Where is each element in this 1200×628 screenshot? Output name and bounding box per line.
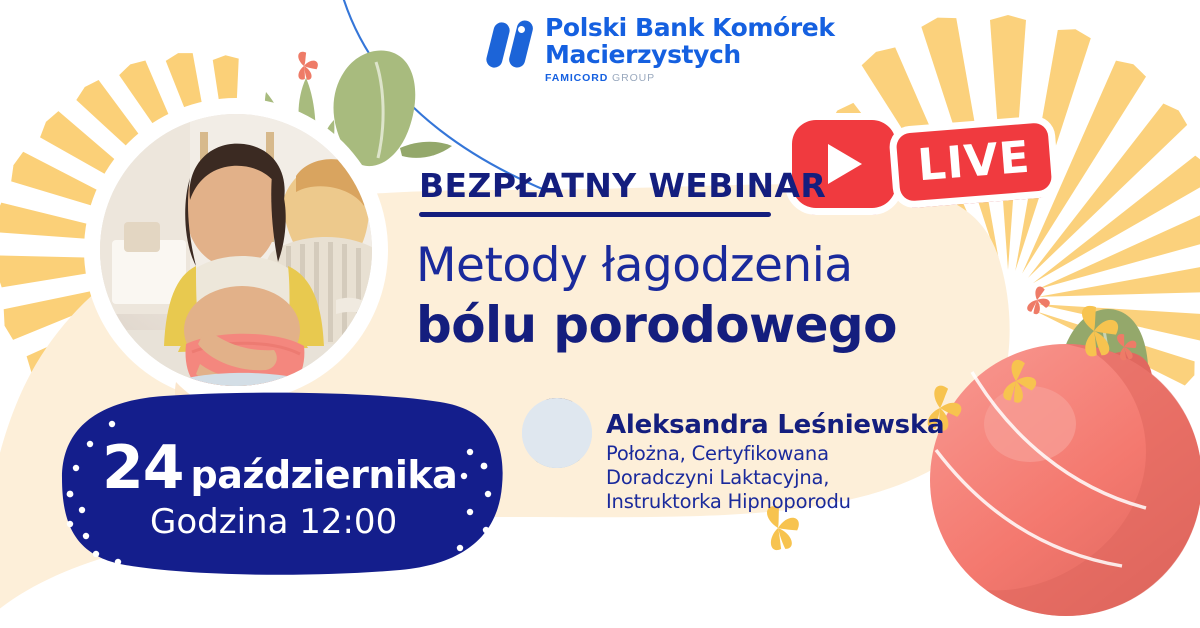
brand-logo[interactable]: Polski Bank Komórek Macierzystych FAMICO… xyxy=(487,14,817,92)
ball-highlight xyxy=(984,386,1076,462)
logo-subtitle-group: GROUP xyxy=(612,72,655,84)
event-time: Godzina 12:00 xyxy=(150,502,397,542)
live-label: LIVE xyxy=(916,136,1032,189)
logo-wordmark: Polski Bank Komórek Macierzystych FAMICO… xyxy=(539,14,835,84)
event-day: 24 xyxy=(102,438,184,498)
headline-line-2: bólu porodowego xyxy=(416,296,897,354)
play-triangle-icon xyxy=(828,144,862,184)
exercise-ball-illustration xyxy=(930,344,1200,616)
logo-mark-icon xyxy=(487,20,539,70)
logo-subtitle-famicord: FAMICORD xyxy=(545,72,608,84)
webinar-kicker: BEZPŁATNY WEBINAR xyxy=(419,166,826,205)
logo-line-1: Polski Bank Komórek xyxy=(545,14,835,41)
speaker-role: Położna, Certyfikowana Doradczyni Laktac… xyxy=(606,442,906,514)
logo-line-2: Macierzystych xyxy=(545,41,835,68)
kicker-underline xyxy=(419,212,771,217)
event-date-line: 24 października xyxy=(102,438,482,498)
speaker-block: Aleksandra Leśniewska Położna, Certyfiko… xyxy=(522,398,942,528)
webinar-banner: Polski Bank Komórek Macierzystych FAMICO… xyxy=(0,0,1200,628)
event-month: października xyxy=(191,455,458,495)
live-badge[interactable]: LIVE xyxy=(792,116,1060,212)
live-tag: LIVE xyxy=(896,122,1053,202)
event-date-panel: 24 października Godzina 12:00 xyxy=(58,404,498,568)
headline-line-1: Metody łagodzenia xyxy=(416,238,853,293)
speaker-avatar xyxy=(522,398,592,468)
speaker-name: Aleksandra Leśniewska xyxy=(606,410,944,440)
logo-subtitle: FAMICORD GROUP xyxy=(545,72,835,84)
